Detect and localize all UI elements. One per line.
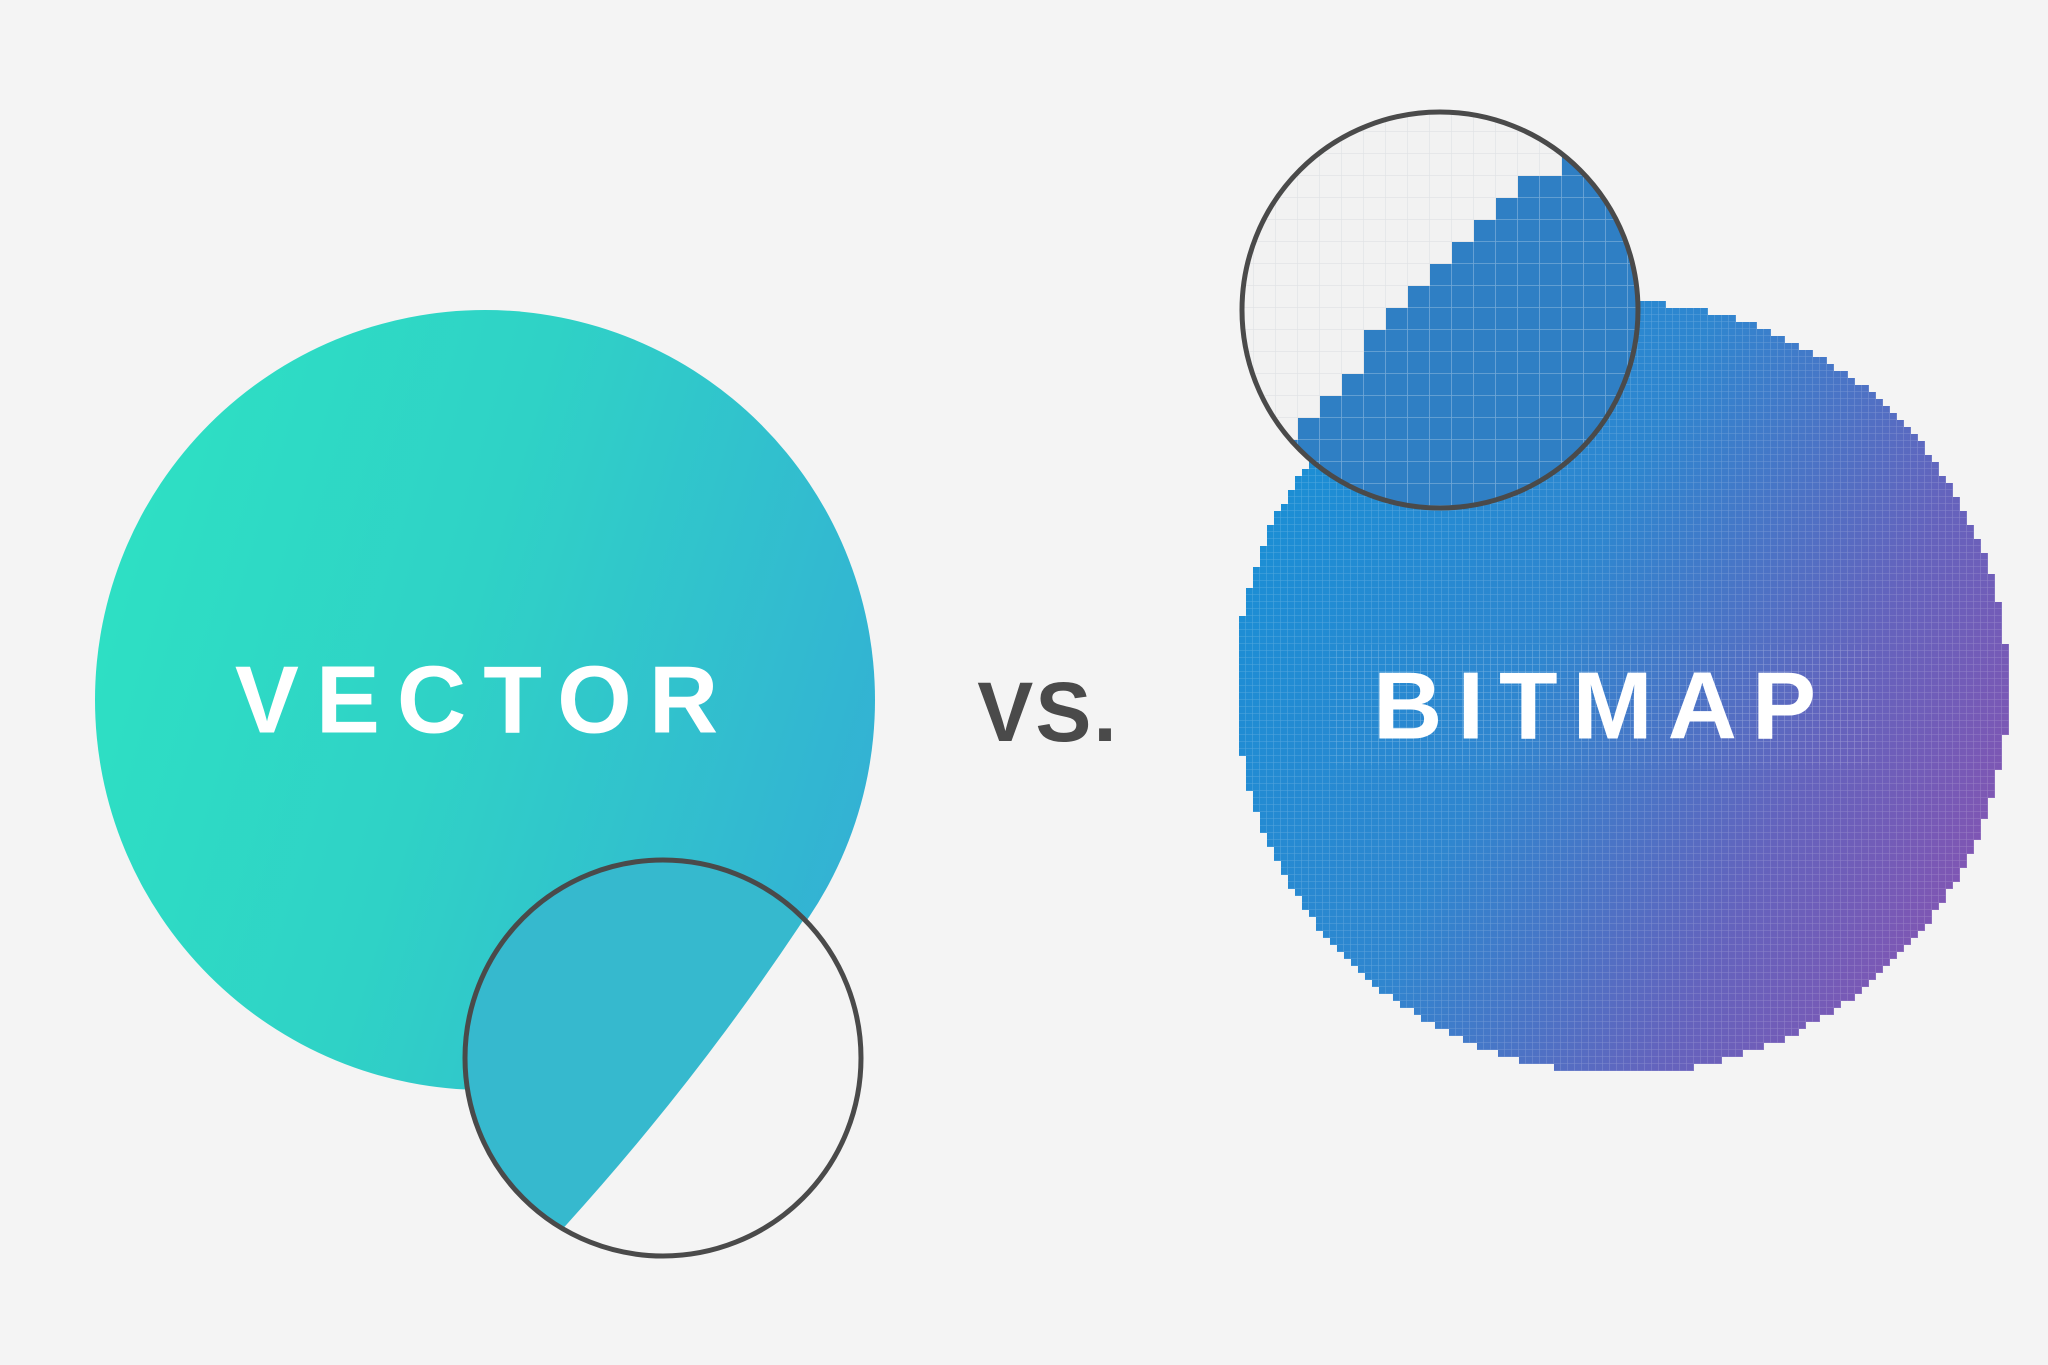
versus-label: VS. bbox=[977, 665, 1118, 759]
bitmap-label-pixel-grid bbox=[1330, 645, 1875, 765]
bitmap-label-group: BITMAP bbox=[1330, 645, 1875, 765]
infographic-canvas: VECTOR VS. BITMAP bbox=[0, 0, 2048, 1365]
vector-vs-bitmap-illustration: VECTOR VS. BITMAP bbox=[0, 0, 2048, 1365]
vector-label: VECTOR bbox=[235, 647, 735, 754]
